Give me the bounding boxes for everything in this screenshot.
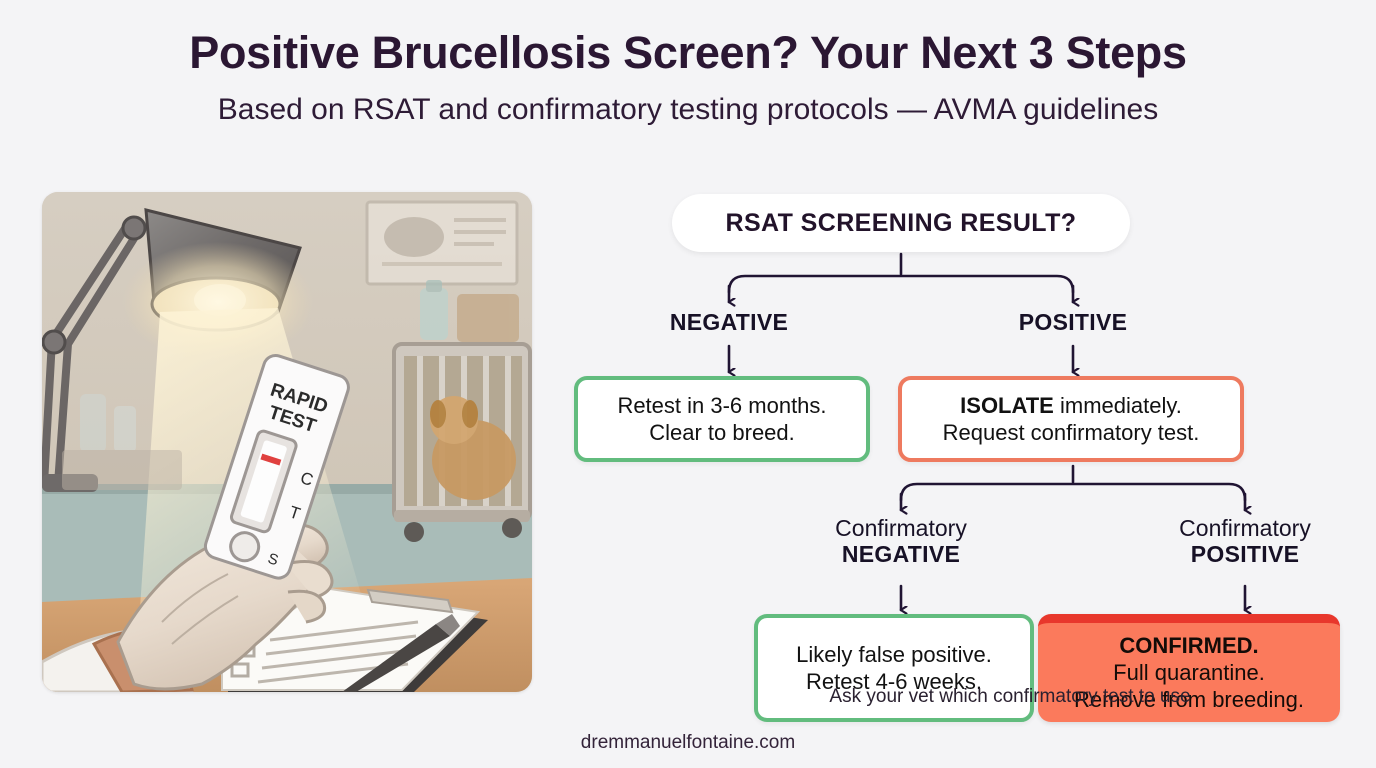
card-positive-isolate-line2: Request confirmatory test. <box>943 419 1200 446</box>
page-subtitle: Based on RSAT and confirmatory testing p… <box>0 92 1376 128</box>
card-positive-isolate-line1-rest: immediately. <box>1054 393 1182 418</box>
card-positive-isolate[interactable]: ISOLATE immediately. Request confirmator… <box>898 376 1244 462</box>
card-negative-retest-line1: Retest in 3-6 months. <box>617 392 826 419</box>
card-confirmed-quarantine-line2: Full quarantine. <box>1113 659 1265 686</box>
branch-label-positive-text: POSITIVE <box>973 310 1173 336</box>
card-confirmed-quarantine-line1: CONFIRMED. <box>1119 632 1258 659</box>
infographic-canvas: Positive Brucellosis Screen? Your Next 3… <box>0 0 1376 768</box>
branch-label-confirmatory-positive-strong: POSITIVE <box>1145 542 1345 568</box>
card-positive-isolate-keyword: ISOLATE <box>960 393 1054 418</box>
branch-label-confirmatory-negative-top: Confirmatory <box>801 516 1001 542</box>
site-footer: dremmanuelfontaine.com <box>0 732 1376 754</box>
flowchart-footnote: Ask your vet which confirmatory test to … <box>710 686 1310 708</box>
branch-label-confirmatory-negative-strong: NEGATIVE <box>801 542 1001 568</box>
wall-poster-icon <box>367 202 517 284</box>
branch-label-negative: NEGATIVE <box>629 310 829 336</box>
card-positive-isolate-line1: ISOLATE immediately. <box>960 392 1182 419</box>
root-node-label: RSAT SCREENING RESULT? <box>726 209 1077 238</box>
branch-label-confirmatory-positive: Confirmatory POSITIVE <box>1145 516 1345 568</box>
branch-label-confirmatory-positive-top: Confirmatory <box>1145 516 1345 542</box>
decision-flowchart: RSAT SCREENING RESULT? NEGATIVE POSITIVE… <box>560 186 1376 766</box>
branch-label-confirmatory-negative: Confirmatory NEGATIVE <box>801 516 1001 568</box>
card-false-positive-line1: Likely false positive. <box>796 641 992 668</box>
card-negative-retest[interactable]: Retest in 3-6 months. Clear to breed. <box>574 376 870 462</box>
card-negative-retest-line2: Clear to breed. <box>649 419 795 446</box>
branch-label-negative-text: NEGATIVE <box>629 310 829 336</box>
veterinary-rapid-test-illustration: RAPID TEST C T S <box>42 192 532 692</box>
branch-label-positive: POSITIVE <box>973 310 1173 336</box>
page-title: Positive Brucellosis Screen? Your Next 3… <box>0 28 1376 78</box>
header: Positive Brucellosis Screen? Your Next 3… <box>0 28 1376 128</box>
kennel-icon <box>394 344 530 542</box>
root-node-rsat-result[interactable]: RSAT SCREENING RESULT? <box>672 194 1130 252</box>
